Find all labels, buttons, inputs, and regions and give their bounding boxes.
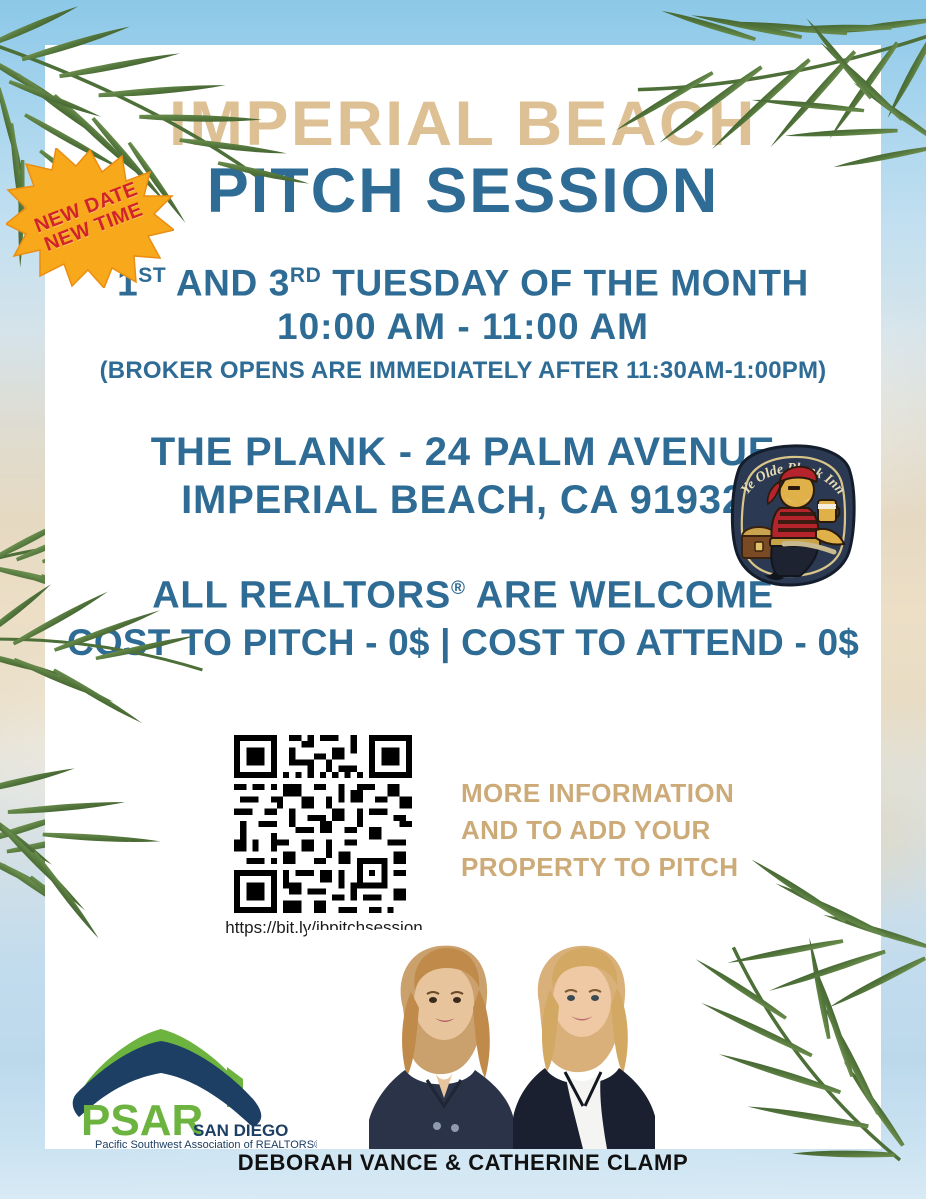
qr-left: https://bit.ly/ibpitchsession [213,735,435,938]
schedule-day-sup2: RD [290,264,322,287]
psar-logo-main: PSAR [81,1096,203,1145]
page-title-line1: IMPERIAL BEACH [37,93,890,155]
poster-root: IMPERIAL BEACH PITCH SESSION 1ST AND 3RD… [0,0,926,1199]
ye-olde-plank-inn-logo: Ye Olde Plank Inn [722,442,864,590]
psar-logo: PSAR SAN DIEGO Pacific Southwest Associa… [67,1023,317,1151]
qr-cta-line3: PROPERTY TO PITCH [461,849,738,886]
qr-cta-line1: MORE INFORMATION [461,775,738,812]
psar-logo-region: SAN DIEGO [193,1121,288,1140]
cost-line: COST TO PITCH - 0$ | COST TO ATTEND - 0$ [45,619,881,667]
schedule-day-mid: AND 3 [166,262,290,303]
registered-trademark-icon: ® [451,578,466,599]
new-date-new-time-badge: NEW DATE NEW TIME [6,148,174,288]
schedule-day-suffix: TUESDAY OF THE MONTH [321,262,808,303]
qr-cta-line2: AND TO ADD YOUR [461,812,738,849]
schedule-time: 10:00 AM - 11:00 AM [45,304,881,350]
presenters-photo [307,930,722,1149]
presenters-caption: DEBORAH VANCE & CATHERINE CLAMP [0,1150,926,1176]
qr-block: https://bit.ly/ibpitchsession MORE INFOR… [213,735,773,938]
schedule-note: (BROKER OPENS ARE IMMEDIATELY AFTER 11:3… [45,354,881,388]
qr-code[interactable] [225,735,421,913]
welcome-line-pre: ALL REALTORS [152,575,451,617]
qr-cta-text: MORE INFORMATION AND TO ADD YOUR PROPERT… [461,735,738,886]
